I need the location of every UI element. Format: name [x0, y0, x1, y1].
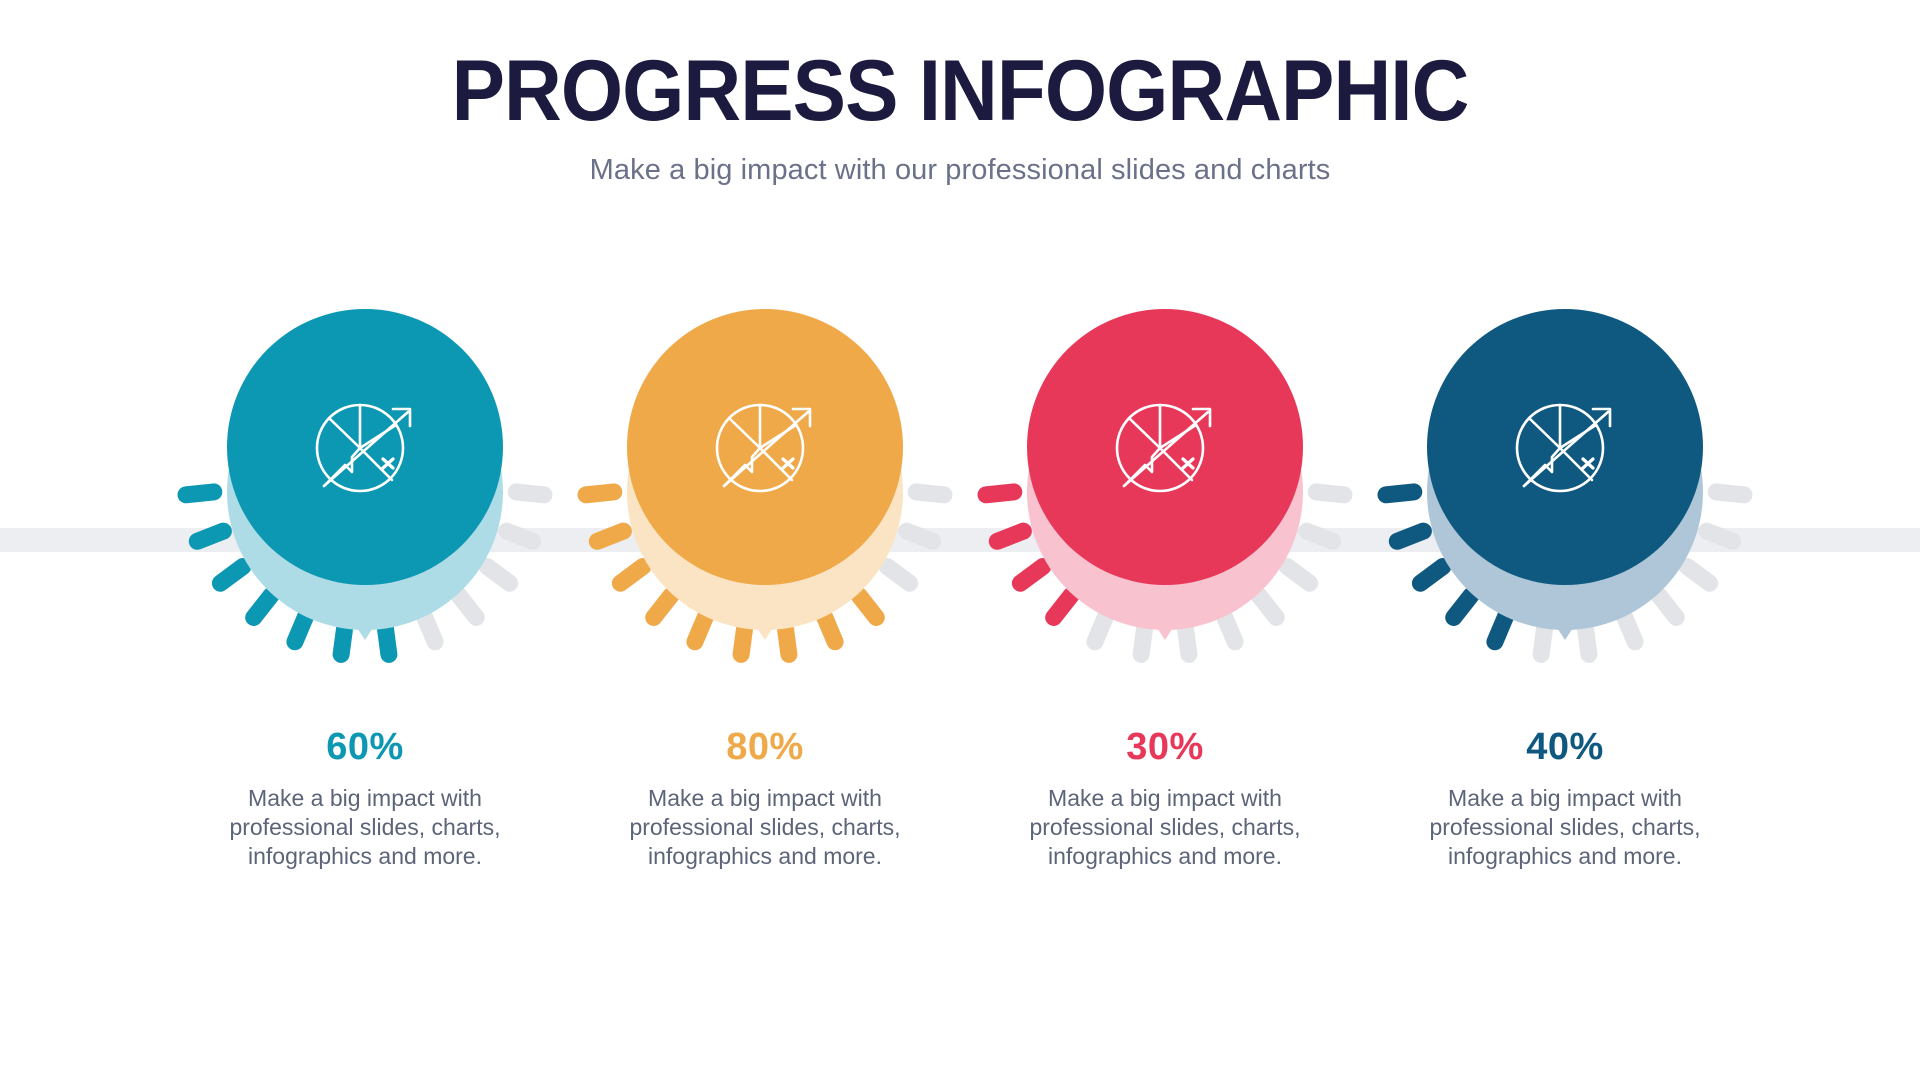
dial-tick [1659, 596, 1676, 618]
pie-chart-growth-arrow-icon [700, 382, 830, 512]
dial-tick [1687, 567, 1710, 584]
page-subtitle: Make a big impact with our professional … [0, 134, 1920, 187]
dial-tick [986, 492, 1014, 495]
dial-tick [1316, 492, 1344, 495]
pie-chart-growth-arrow-icon [1100, 382, 1230, 512]
progress-items-row: 60% Make a big impact with professional … [0, 276, 1920, 872]
progress-item[interactable]: 60% Make a big impact with professional … [165, 276, 565, 872]
dial-tick [1287, 567, 1310, 584]
dial-tick [824, 616, 835, 642]
dial-tick [507, 531, 533, 541]
callout-bubble-tail [743, 606, 787, 640]
dial-tick [597, 531, 623, 541]
dial-tick [1420, 567, 1443, 584]
dial-tick [186, 492, 214, 495]
progress-dial[interactable] [965, 276, 1365, 696]
dial-tick [459, 596, 476, 618]
callout-bubble-tail [1143, 606, 1187, 640]
dial-tick [1307, 531, 1333, 541]
item-description: Make a big impact with professional slid… [220, 784, 510, 872]
dial-tick [620, 567, 643, 584]
dial-tick [997, 531, 1023, 541]
dial-tick [1054, 596, 1071, 618]
dial-tick [1386, 492, 1414, 495]
dial-tick [1095, 616, 1106, 642]
percent-label: 30% [1126, 726, 1204, 769]
callout-bubble-tail [1543, 606, 1587, 640]
dial-tick [695, 616, 706, 642]
dial-disc[interactable] [1427, 309, 1703, 585]
dial-tick [295, 616, 306, 642]
dial-tick [1397, 531, 1423, 541]
dial-tick [1224, 616, 1235, 642]
dial-tick [220, 567, 243, 584]
dial-tick [254, 596, 271, 618]
progress-dial[interactable] [565, 276, 965, 696]
progress-item[interactable]: 30% Make a big impact with professional … [965, 276, 1365, 872]
percent-label: 60% [326, 726, 404, 769]
dial-tick [586, 492, 614, 495]
dial-disc[interactable] [627, 309, 903, 585]
callout-bubble-tail [343, 606, 387, 640]
progress-dial[interactable] [165, 276, 565, 696]
dial-disc[interactable] [227, 309, 503, 585]
header: PROGRESS INFOGRAPHIC Make a big impact w… [0, 0, 1920, 187]
pie-chart-growth-arrow-icon [300, 382, 430, 512]
dial-tick [487, 567, 510, 584]
dial-tick [916, 492, 944, 495]
dial-tick [424, 616, 435, 642]
dial-tick [1259, 596, 1276, 618]
dial-tick [887, 567, 910, 584]
percent-label: 40% [1526, 726, 1604, 769]
dial-tick [1707, 531, 1733, 541]
progress-item[interactable]: 80% Make a big impact with professional … [565, 276, 965, 872]
dial-tick [907, 531, 933, 541]
dial-tick [654, 596, 671, 618]
dial-tick [197, 531, 223, 541]
dial-tick [1716, 492, 1744, 495]
item-description: Make a big impact with professional slid… [1420, 784, 1710, 872]
item-description: Make a big impact with professional slid… [1020, 784, 1310, 872]
page-title: PROGRESS INFOGRAPHIC [67, 0, 1853, 134]
dial-tick [859, 596, 876, 618]
percent-label: 80% [726, 726, 804, 769]
progress-item[interactable]: 40% Make a big impact with professional … [1365, 276, 1765, 872]
dial-tick [1020, 567, 1043, 584]
dial-tick [1454, 596, 1471, 618]
progress-dial[interactable] [1365, 276, 1765, 696]
item-description: Make a big impact with professional slid… [620, 784, 910, 872]
dial-tick [516, 492, 544, 495]
pie-chart-growth-arrow-icon [1500, 382, 1630, 512]
dial-tick [1495, 616, 1506, 642]
dial-tick [1624, 616, 1635, 642]
dial-disc[interactable] [1027, 309, 1303, 585]
